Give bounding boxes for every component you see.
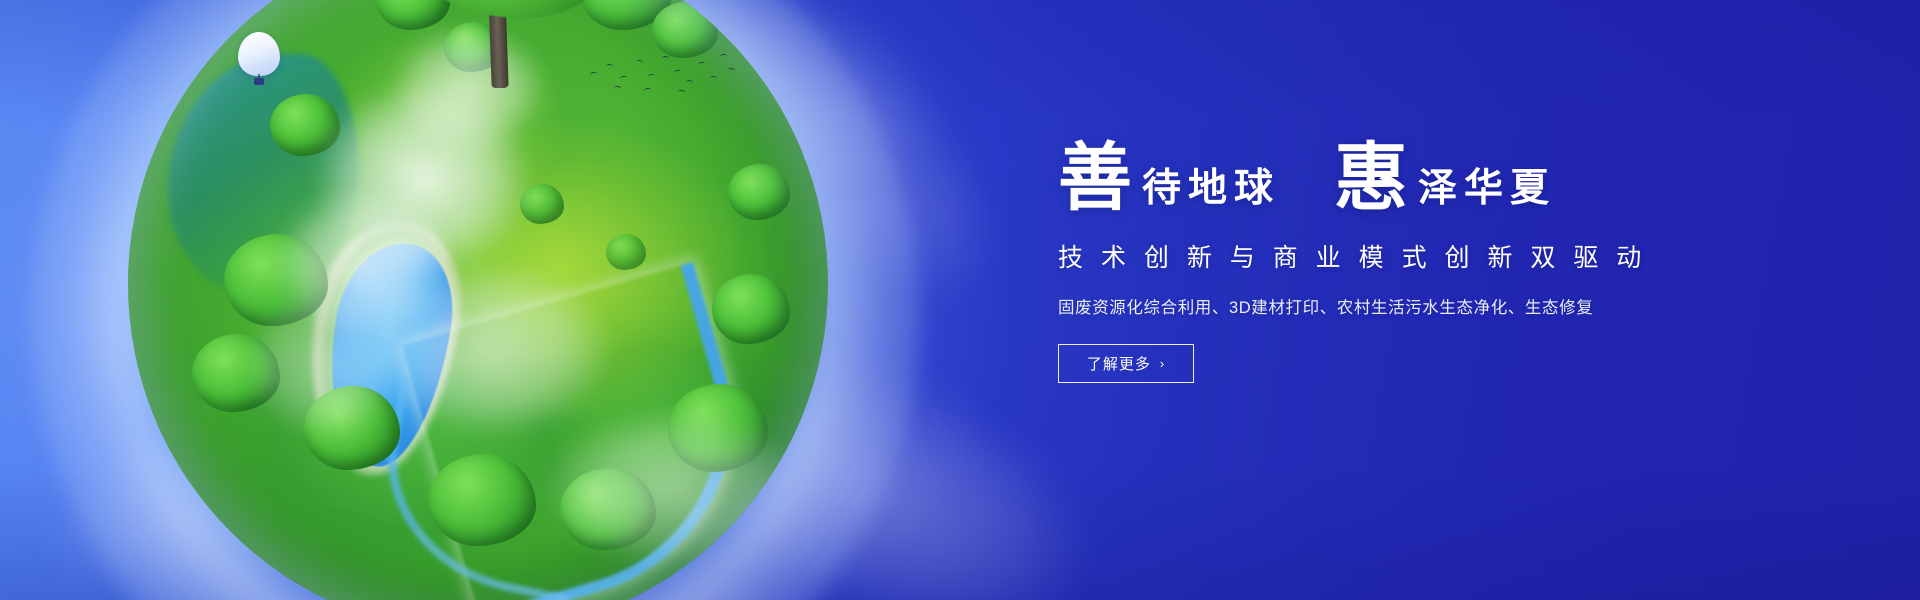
tree-canopy (728, 164, 790, 220)
hero-banner: 善 待地球 惠 泽华夏 技 术 创 新 与 商 业 模 式 创 新 双 驱 动 … (0, 0, 1920, 600)
learn-more-button[interactable]: 了解更多 › (1058, 344, 1194, 383)
tree-canopy (668, 384, 768, 472)
subtitle: 技 术 创 新 与 商 业 模 式 创 新 双 驱 动 (1058, 238, 1778, 274)
bird-icon (686, 79, 694, 85)
bird-icon (710, 76, 717, 82)
tree-canopy (270, 94, 340, 156)
bird-flock (586, 50, 736, 96)
bird-icon (673, 69, 681, 76)
bird-icon (728, 67, 736, 73)
hot-air-balloon-icon (238, 32, 280, 84)
headline-char-shan: 善 (1058, 142, 1132, 216)
bird-icon (590, 71, 598, 77)
bird-icon (698, 62, 706, 68)
description: 固废资源化综合利用、3D建材打印、农村生活污水生态净化、生态修复 (1058, 294, 1778, 318)
tree-canopy (428, 454, 536, 546)
bird-icon (620, 76, 627, 82)
tree-canopy (606, 234, 646, 270)
headline-char-hui: 惠 (1334, 142, 1408, 216)
tree-canopy (712, 274, 790, 344)
hero-content: 善 待地球 惠 泽华夏 技 术 创 新 与 商 业 模 式 创 新 双 驱 动 … (1058, 138, 1778, 383)
tree-canopy (224, 234, 328, 326)
headline-daidiqiu: 待地球 (1132, 169, 1280, 208)
tree-canopy (560, 468, 656, 550)
bird-icon (606, 64, 614, 70)
bird-icon (644, 88, 652, 94)
tree-canopy (192, 334, 280, 412)
tree-canopy (376, 0, 450, 30)
bird-icon (635, 59, 643, 66)
bird-icon (648, 73, 656, 79)
headline-zehuaxia: 泽华夏 (1408, 169, 1556, 208)
balloon-envelope (238, 32, 280, 76)
tree-canopy (304, 386, 400, 470)
learn-more-label: 了解更多 (1087, 353, 1151, 374)
tree-canopy (520, 184, 564, 224)
headline: 善 待地球 惠 泽华夏 (1058, 138, 1778, 212)
chevron-right-icon: › (1160, 357, 1165, 370)
bird-icon (720, 54, 727, 60)
bird-icon (662, 56, 669, 62)
bird-icon (614, 85, 622, 91)
bird-icon (678, 89, 686, 95)
balloon-basket (254, 78, 264, 85)
